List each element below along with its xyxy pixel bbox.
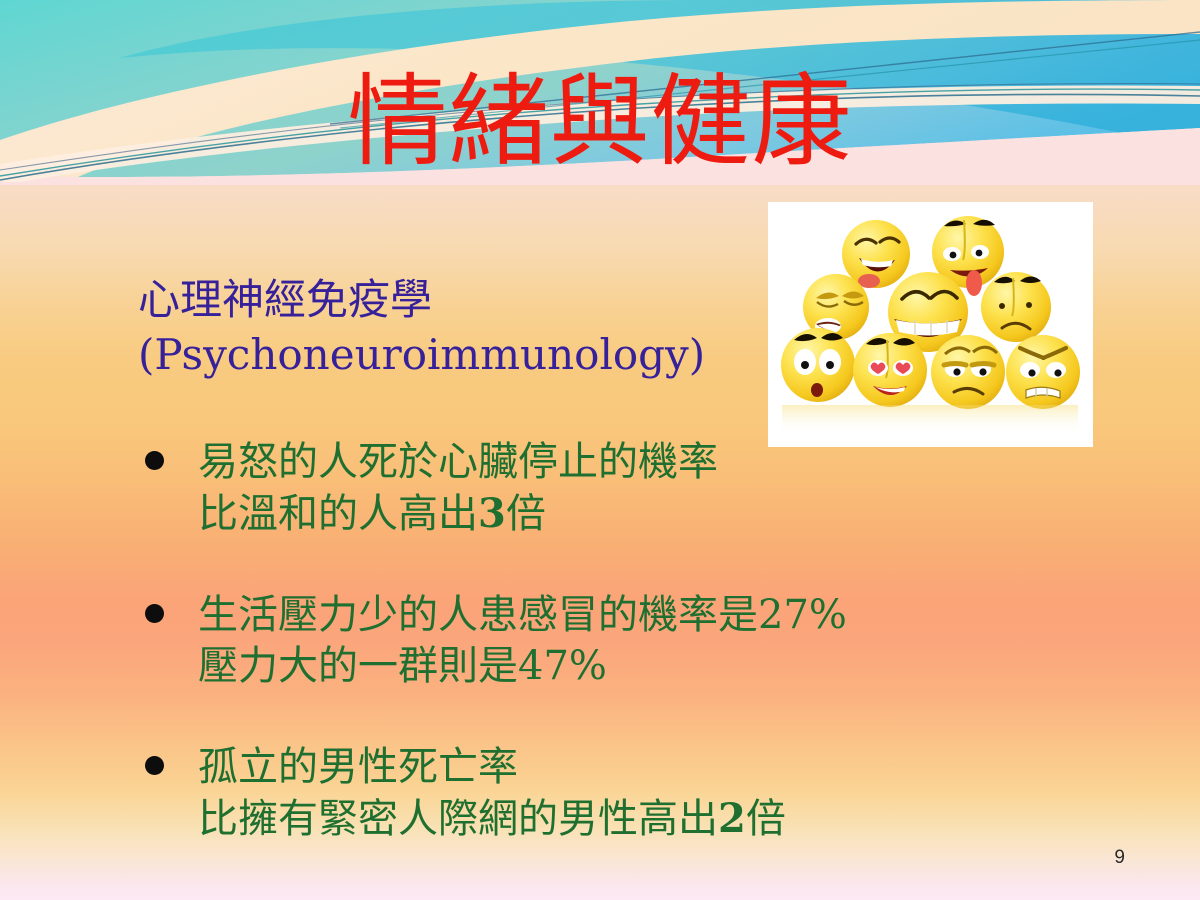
bullet-dot-icon (145, 451, 164, 470)
bullet-list: 易怒的人死於心臟停止的機率 比溫和的人高出3倍 生活壓力少的人患感冒的機率是27… (140, 437, 920, 895)
bullet-dot-icon (145, 604, 164, 623)
slide-title: 情緒與健康 (0, 68, 1200, 176)
list-item: 孤立的男性死亡率 比擁有緊密人際網的男性高出2倍 (140, 742, 920, 845)
smiley-faces-image (768, 202, 1093, 447)
laughing-face (842, 220, 910, 288)
bullet-1-line-1: 易怒的人死於心臟停止的機率 (198, 437, 920, 488)
in-love-heart-eyes-face (853, 333, 927, 407)
bullet-1-line-2-post: 倍 (506, 491, 546, 537)
bullet-3-line-2-pre: 比擁有緊密人際網的男性高出 (198, 796, 718, 842)
shocked-wide-eyes-face (781, 328, 855, 402)
sad-frown-face (981, 272, 1051, 342)
bullet-text: 生活壓力少的人患感冒的機率是27% 壓力大的一群則是47% (198, 590, 920, 692)
presentation-slide: 情緒與健康 心理神經免疫學 (Psychoneuroimmunology) 易怒… (0, 0, 1200, 900)
page-number: 9 (1114, 848, 1125, 868)
bullet-text: 孤立的男性死亡率 比擁有緊密人際網的男性高出2倍 (198, 742, 920, 845)
bullet-3-number: 2 (718, 795, 746, 842)
bullet-2-line-2: 壓力大的一群則是47% (198, 641, 920, 692)
subtitle-line-english: (Psychoneuroimmunology) (138, 327, 705, 382)
bullet-2-line-1: 生活壓力少的人患感冒的機率是27% (198, 590, 920, 641)
list-item: 易怒的人死於心臟停止的機率 比溫和的人高出3倍 (140, 437, 920, 540)
bullet-1-line-2-pre: 比溫和的人高出 (198, 491, 478, 537)
bullet-1-number: 3 (478, 490, 506, 537)
bullet-2-line-2-pre: 壓力大的一群則是 (198, 643, 518, 689)
suspicious-face (931, 335, 1005, 409)
bullet-2-number: 47 (518, 643, 569, 689)
subtitle-block: 心理神經免疫學 (Psychoneuroimmunology) (138, 272, 705, 382)
bullet-text: 易怒的人死於心臟停止的機率 比溫和的人高出3倍 (198, 437, 920, 540)
subtitle-line-chinese: 心理神經免疫學 (138, 272, 705, 327)
list-item: 生活壓力少的人患感冒的機率是27% 壓力大的一群則是47% (140, 590, 920, 692)
bullet-3-line-1: 孤立的男性死亡率 (198, 742, 920, 793)
bullet-2-line-2-post: % (569, 643, 607, 689)
angry-face (1006, 335, 1080, 409)
bullet-3-line-2: 比擁有緊密人際網的男性高出2倍 (198, 793, 920, 845)
bullet-1-line-2: 比溫和的人高出3倍 (198, 488, 920, 540)
bullet-3-line-2-post: 倍 (746, 796, 786, 842)
bullet-dot-icon (145, 756, 164, 775)
